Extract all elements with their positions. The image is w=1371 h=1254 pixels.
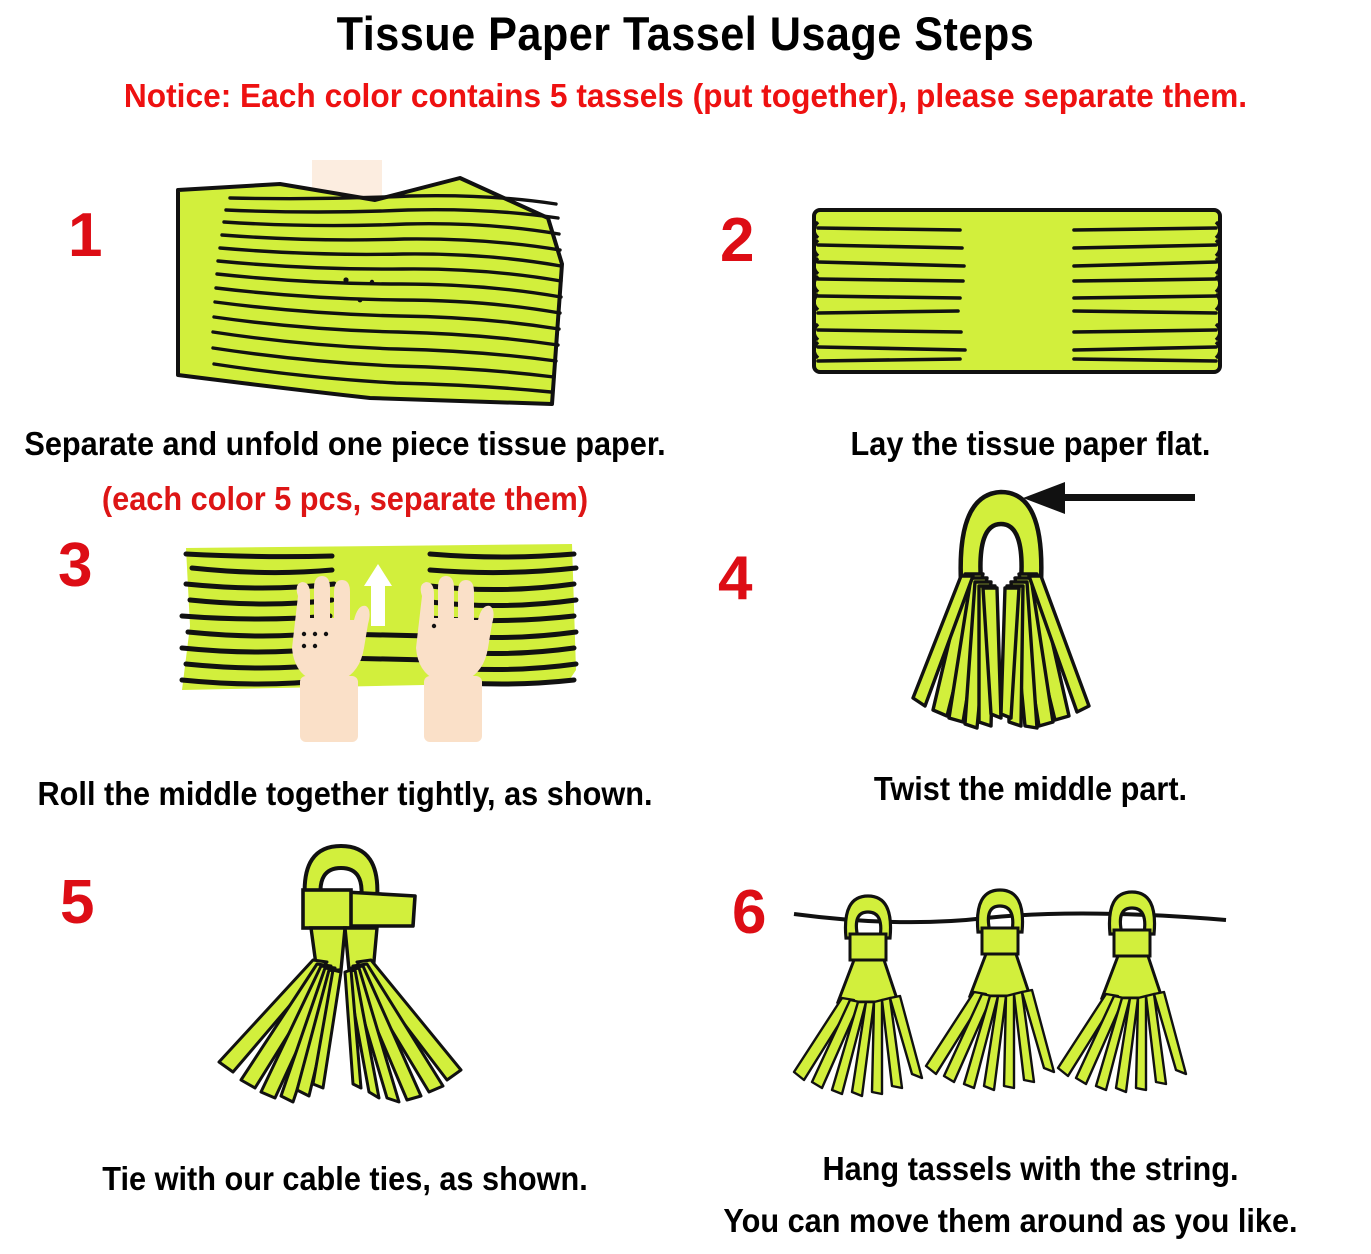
step-4-caption: Twist the middle part.	[714, 770, 1347, 808]
step-2: 2	[690, 150, 1371, 500]
hanging-tassel	[794, 896, 922, 1096]
step-5: 5 Tie with our cable ties, as sho	[0, 840, 690, 1254]
step-3: 3	[0, 520, 690, 830]
step-6: 6	[690, 860, 1371, 1254]
step-1: 1 Separate and unfold one p	[0, 150, 690, 500]
step-3-illustration	[172, 530, 592, 760]
notice-text: Notice: Each color contains 5 tassels (p…	[27, 77, 1343, 115]
step-2-caption: Lay the tissue paper flat.	[714, 425, 1347, 463]
step-4-illustration	[815, 470, 1235, 760]
step-1-caption-note: (each color 5 pcs, separate them)	[24, 480, 666, 518]
page-title: Tissue Paper Tassel Usage Steps	[55, 6, 1316, 61]
step-3-number: 3	[58, 535, 92, 597]
step-2-number: 2	[720, 210, 754, 272]
hanging-tassel	[1058, 892, 1186, 1092]
step-1-number: 1	[68, 205, 102, 267]
step-5-illustration	[155, 840, 535, 1130]
step-1-illustration	[160, 160, 580, 420]
step-5-number: 5	[60, 872, 94, 934]
step-6-illustration	[790, 882, 1230, 1132]
step-6-number: 6	[732, 882, 766, 944]
step-3-caption: Roll the middle together tightly, as sho…	[24, 775, 666, 813]
header: Tissue Paper Tassel Usage Steps Notice: …	[0, 0, 1371, 115]
step-4-number: 4	[718, 548, 752, 610]
step-6-caption-note: You can move them around as you like.	[675, 1202, 1346, 1240]
step-5-caption: Tie with our cable ties, as shown.	[24, 1160, 666, 1198]
step-2-illustration	[808, 198, 1228, 388]
step-4: 4 Twist the middle part.	[690, 470, 1371, 830]
pointer-arrow	[1023, 482, 1195, 514]
step-6-caption: Hang tassels with the string.	[714, 1150, 1347, 1188]
step-1-caption: Separate and unfold one piece tissue pap…	[24, 425, 666, 463]
